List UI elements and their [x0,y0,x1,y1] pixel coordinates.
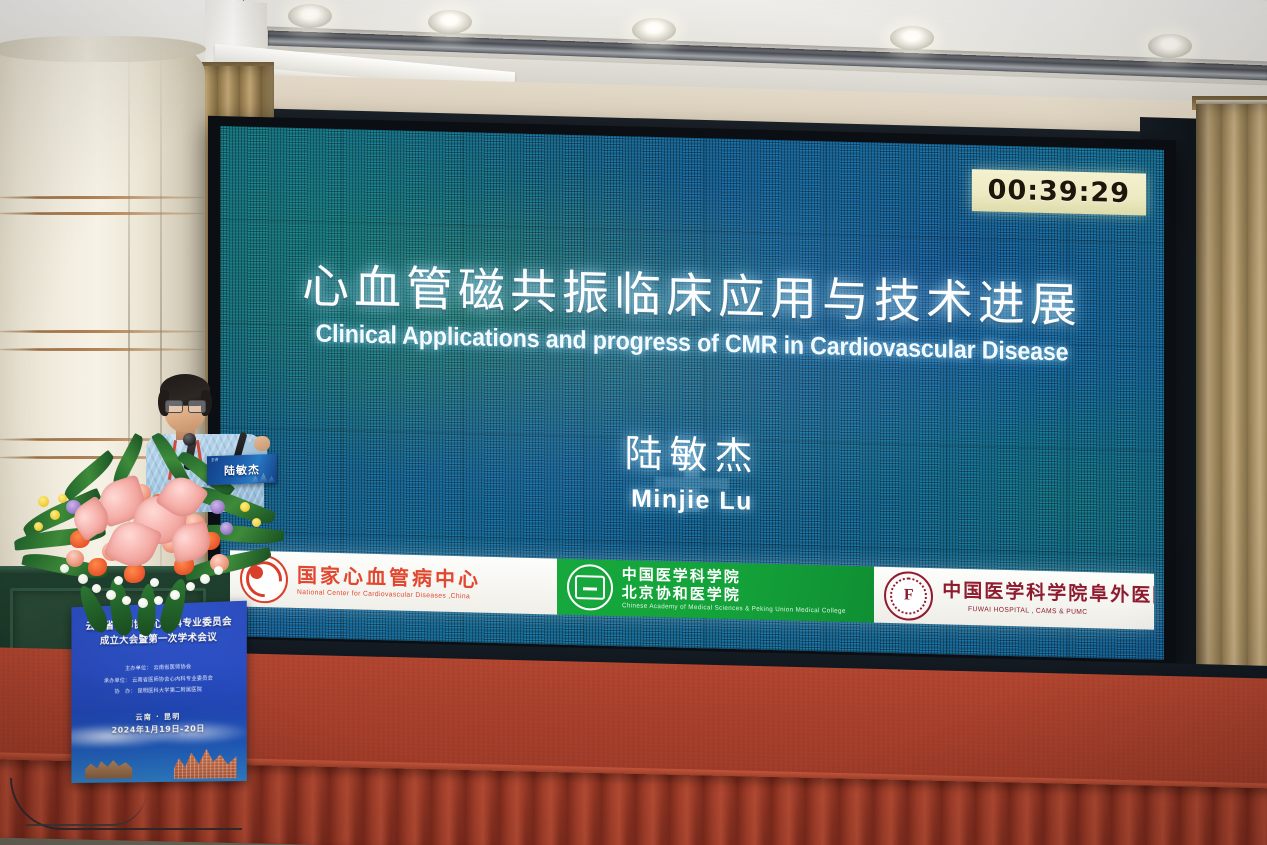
fuwai-seal-letter: F [904,586,914,604]
pillar-band [0,212,205,215]
podium-org-line3: 协 办： 昆明医科大学第二附属医院 [71,684,246,697]
pillar-band [0,348,205,351]
downlight-icon [1148,34,1192,58]
speaker-nameplate: 主讲 陆敏杰 [207,454,277,485]
downlight-icon [288,4,332,28]
downlight-icon [428,10,472,34]
pillar-capital [0,36,206,62]
slide-text-block: 心血管磁共振临床应用与技术进展 Clinical Applications an… [220,258,1164,527]
floor-cable [26,792,146,826]
downlight-icon [632,18,676,42]
logo-fuwai-en: FUWAI HOSPITAL , CAMS & PUMC [968,605,1154,617]
sponsor-logo-band: 国家心血管病中心 National Center for Cardiovascu… [230,550,1154,629]
nameplate-name: 陆敏杰 [224,461,260,478]
cams-seal-icon [567,564,613,611]
logo-fuwai-cn: 中国医学科学院阜外医院 [942,581,1154,606]
nameplate-sub: 主讲 [211,458,218,463]
led-screen-frame: 00:39:29 心血管磁共振临床应用与技术进展 Clinical Applic… [208,116,1176,669]
conference-photo-scene: 00:39:29 心血管磁共振临床应用与技术进展 Clinical Applic… [0,0,1267,845]
speaker-glasses-icon [165,400,206,411]
led-screen[interactable]: 00:39:29 心血管磁共振临床应用与技术进展 Clinical Applic… [220,126,1164,660]
logo-fuwai: F 中国医学科学院阜外医院 FUWAI HOSPITAL , CAMS & PU… [874,567,1154,630]
logo-ncd-cn: 国家心血管病中心 [297,565,481,590]
downlight-icon [890,26,934,50]
countdown-timer: 00:39:29 [972,169,1146,215]
pillar-band [0,196,205,199]
logo-cams-pumc: 中国医学科学院 北京协和医学院 Chinese Academy of Medic… [557,559,875,623]
fuwai-seal-icon: F [884,570,933,620]
pillar-band [0,330,205,333]
